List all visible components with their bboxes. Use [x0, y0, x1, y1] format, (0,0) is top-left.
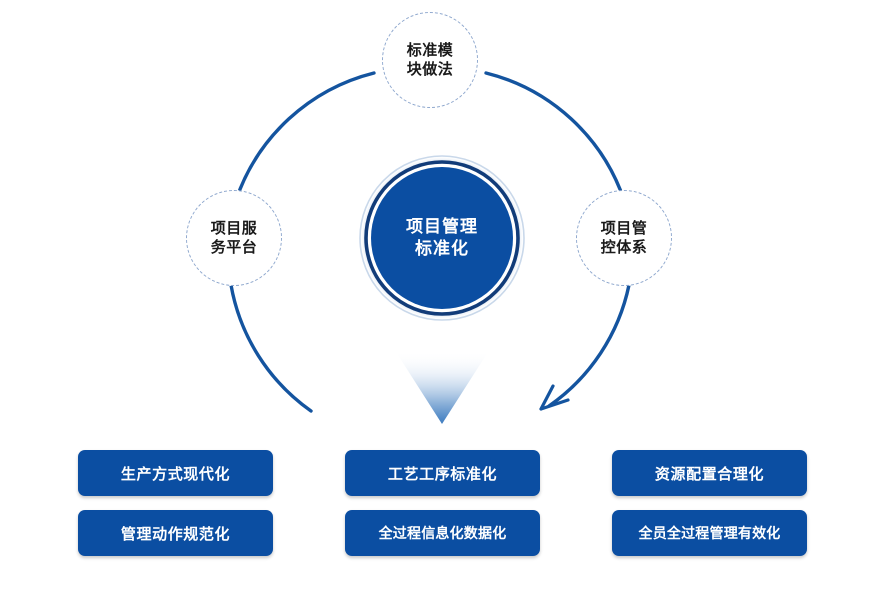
cycle-arc-segment-left-bottom	[231, 285, 311, 411]
outcome-button-resource-allocation[interactable]: 资源配置合理化	[612, 450, 807, 496]
outcome-button-full-process-digitalization[interactable]: 全过程信息化数据化	[345, 510, 540, 556]
cycle-node-label: 标准模 块做法	[407, 41, 454, 79]
outcome-button-production-modernization[interactable]: 生产方式现代化	[78, 450, 273, 496]
cycle-arc-segment-top-left	[236, 73, 374, 200]
cycle-node-standard-module[interactable]: 标准模 块做法	[382, 12, 478, 108]
outcome-button-label: 全员全过程管理有效化	[639, 523, 781, 543]
cycle-arc-segment-right-bottom	[549, 285, 629, 406]
outcome-button-label: 管理动作规范化	[121, 523, 230, 544]
outcome-button-all-staff-effectiveness[interactable]: 全员全过程管理有效化	[612, 510, 807, 556]
cycle-node-service-platform[interactable]: 项目服 务平台	[186, 190, 282, 286]
down-arrow-shape	[396, 352, 488, 424]
center-hub[interactable]: 项目管理 标准化	[371, 167, 513, 309]
outcome-button-process-standardization[interactable]: 工艺工序标准化	[345, 450, 540, 496]
outcome-button-label: 全过程信息化数据化	[379, 523, 507, 543]
outcome-button-label: 工艺工序标准化	[388, 463, 497, 484]
cycle-arrow-head	[541, 386, 568, 409]
cycle-node-label: 项目管 控体系	[601, 219, 648, 257]
outcome-button-management-standardization[interactable]: 管理动作规范化	[78, 510, 273, 556]
outcome-button-grid: 生产方式现代化 工艺工序标准化 资源配置合理化 管理动作规范化 全过程信息化数据…	[78, 450, 808, 556]
outcome-button-label: 生产方式现代化	[121, 463, 230, 484]
outcome-button-label: 资源配置合理化	[655, 463, 764, 484]
cycle-node-label: 项目服 务平台	[211, 219, 258, 257]
center-hub-label: 项目管理 标准化	[406, 216, 478, 261]
cycle-node-control-system[interactable]: 项目管 控体系	[576, 190, 672, 286]
cycle-arc-segment-top-right	[486, 73, 624, 200]
diagram-canvas: 项目管理 标准化 标准模 块做法 项目服 务平台 项目管 控体系 生产方式现代化…	[0, 0, 884, 590]
